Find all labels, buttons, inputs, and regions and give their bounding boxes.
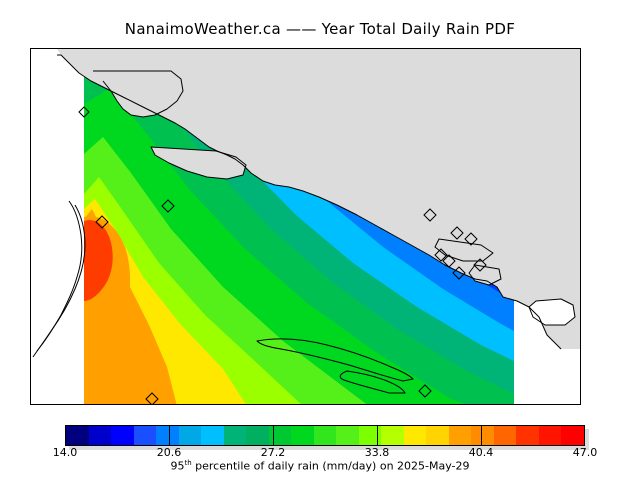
- colorbar-segment-0: [66, 426, 89, 445]
- page-title: NanaimoWeather.ca —— Year Total Daily Ra…: [0, 20, 640, 38]
- colorbar-segment-18: [471, 426, 494, 445]
- colorbar-segment-20: [516, 426, 539, 445]
- caption-post: percentile of daily rain (mm/day) on 202…: [192, 460, 470, 473]
- caption-superscript: th: [184, 459, 191, 467]
- colorbar-segment-7: [224, 426, 247, 445]
- colorbar-segment-2: [111, 426, 134, 445]
- colorbar-caption: 95th percentile of daily rain (mm/day) o…: [0, 459, 640, 473]
- colorbar-label-0: 14.0: [53, 446, 78, 459]
- colorbar-segment-14: [381, 426, 404, 445]
- contour-map-svg: [31, 49, 580, 404]
- colorbar-segment-21: [539, 426, 562, 445]
- colorbar-segment-8: [246, 426, 269, 445]
- colorbar-segment-3: [134, 426, 157, 445]
- colorbar-segment-17: [449, 426, 472, 445]
- colorbar-label-3: 33.8: [365, 446, 390, 459]
- colorbar-segment-19: [494, 426, 517, 445]
- colorbar[interactable]: [65, 425, 585, 446]
- colorbar-gradient[interactable]: [65, 425, 585, 446]
- colorbar-label-1: 20.6: [157, 446, 182, 459]
- colorbar-label-5: 47.0: [573, 446, 598, 459]
- colorbar-label-4: 40.4: [469, 446, 494, 459]
- colorbar-segment-15: [404, 426, 427, 445]
- colorbar-segment-9: [269, 426, 292, 445]
- caption-pre: 95: [170, 460, 184, 473]
- colorbar-segment-1: [89, 426, 112, 445]
- colorbar-segment-10: [291, 426, 314, 445]
- colorbar-label-2: 27.2: [261, 446, 286, 459]
- map-plot-area[interactable]: [30, 48, 581, 405]
- screenshot-root: NanaimoWeather.ca —— Year Total Daily Ra…: [0, 0, 640, 480]
- colorbar-segment-13: [359, 426, 382, 445]
- colorbar-segment-4: [156, 426, 179, 445]
- colorbar-segment-6: [201, 426, 224, 445]
- colorbar-segment-11: [314, 426, 337, 445]
- colorbar-segment-22: [561, 426, 584, 445]
- colorbar-segment-16: [426, 426, 449, 445]
- colorbar-segment-5: [179, 426, 202, 445]
- colorbar-segment-12: [336, 426, 359, 445]
- colorbar-tick-labels: 14.020.627.233.840.447.0: [0, 446, 640, 460]
